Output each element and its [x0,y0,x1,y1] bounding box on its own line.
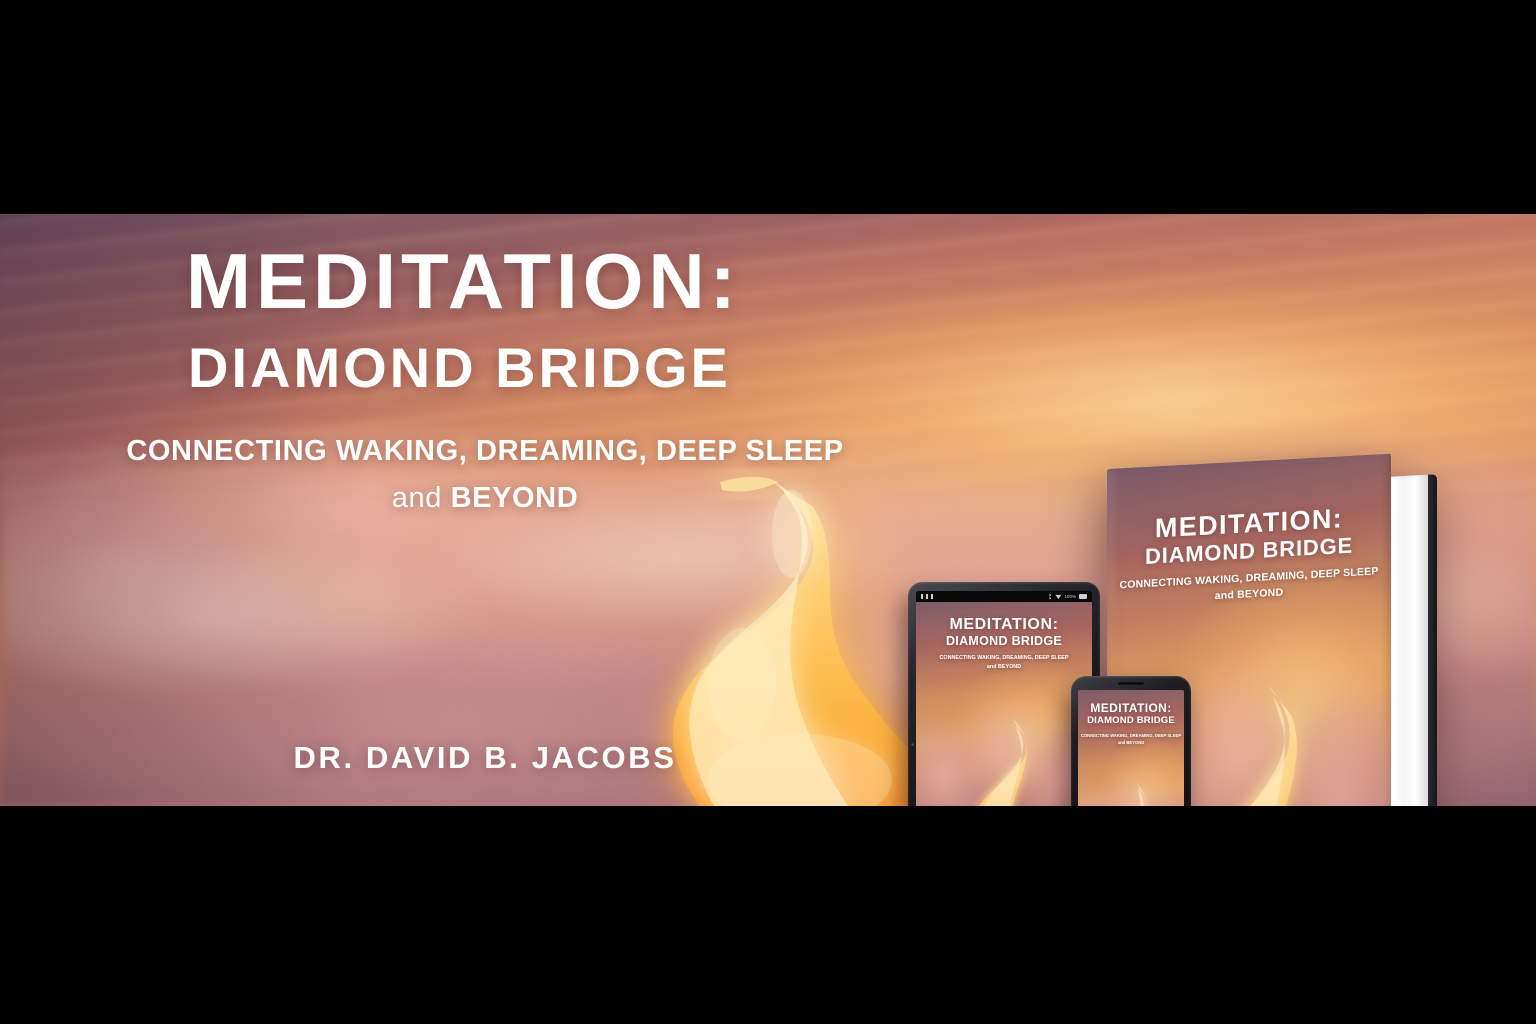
wifi-icon [1055,594,1061,599]
tablet-cover-title-line2: DIAMOND BRIDGE [916,634,1092,648]
phone-screen[interactable]: MEDITATION: DIAMOND BRIDGE CONNECTING WA… [1078,690,1184,806]
battery-icon [1079,594,1087,599]
tagline-line2: and BEYOND [120,479,850,518]
phone-cover-title-line1: MEDITATION: [1078,702,1184,716]
tablet-cover-subtitle-line2: and BEYOND [916,663,1092,672]
signal-icon [931,594,933,599]
battery-percent-label: 100% [1064,594,1076,599]
book-title-line2: DIAMOND BRIDGE [188,340,731,396]
tablet-cover-subtitle: CONNECTING WAKING, DREAMING, DEEP SLEEP … [916,654,1092,671]
banner-artwork: MEDITATION: DIAMOND BRIDGE CONNECTING WA… [0,214,1536,806]
author-name: DR. DAVID B. JACOBS [120,740,850,776]
tagline-and: and [392,482,451,514]
phone-speaker-icon [1118,682,1144,685]
phone-mockup[interactable]: MEDITATION: DIAMOND BRIDGE CONNECTING WA… [1071,676,1191,806]
tablet-cover-art: MEDITATION: DIAMOND BRIDGE CONNECTING WA… [916,602,1092,806]
bluetooth-icon [1048,594,1052,600]
tablet-cover-title-line1: MEDITATION: [916,616,1092,634]
book-tagline: CONNECTING WAKING, DREAMING, DEEP SLEEP … [120,432,850,518]
tagline-line1: CONNECTING WAKING, DREAMING, DEEP SLEEP [126,435,843,467]
signal-icon [921,594,923,599]
phone-cover-subtitle-line2: and BEYOND [1078,739,1184,746]
tablet-screen[interactable]: 100% [916,591,1092,806]
headline-copy-block: MEDITATION: DIAMOND BRIDGE CONNECTING WA… [0,214,900,806]
tagline-beyond: BEYOND [451,482,579,514]
status-left-group [921,594,933,599]
book-title-line1: MEDITATION: [186,242,741,320]
tablet-cover-title: MEDITATION: DIAMOND BRIDGE [916,616,1092,648]
tablet-status-bar: 100% [916,591,1092,602]
letterbox-bar-top [0,0,1536,214]
phone-cover-subtitle: CONNECTING WAKING, DREAMING, DEEP SLEEP … [1078,732,1184,746]
phone-cover-subtitle-line1: CONNECTING WAKING, DREAMING, DEEP SLEEP [1078,732,1184,739]
tablet-camera-icon [911,743,914,746]
phone-cover-title: MEDITATION: DIAMOND BRIDGE [1078,702,1184,727]
book-banner-stage: MEDITATION: DIAMOND BRIDGE CONNECTING WA… [0,0,1536,1024]
signal-icon [926,594,928,599]
book-page-block [1385,474,1437,806]
letterbox-bar-bottom [0,806,1536,1024]
status-right-group: 100% [1048,594,1087,600]
tablet-cover-subtitle-line1: CONNECTING WAKING, DREAMING, DEEP SLEEP [916,654,1092,663]
phone-cover-title-line2: DIAMOND BRIDGE [1078,716,1184,727]
